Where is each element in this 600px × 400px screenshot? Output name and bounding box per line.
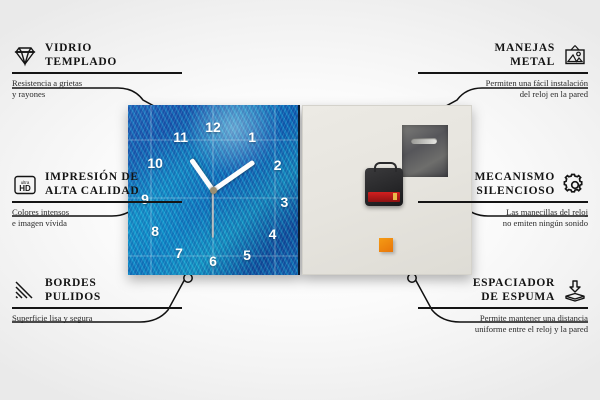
second-hand [212, 190, 214, 238]
feature-heading: VIDRIO TEMPLADO [12, 42, 182, 69]
diamond-icon [12, 44, 38, 68]
feature-title-line2: TEMPLADO [45, 56, 117, 70]
feature-title-line1: VIDRIO [45, 42, 117, 56]
orange-foam-spacer [379, 238, 393, 252]
feature-sub-line1: Permiten una fácil instalación [418, 78, 588, 89]
battery-compartment [368, 192, 400, 202]
feature-impresion-alta-calidad: ultra HD IMPRESIÓN DE ALTA CALIDAD Color… [12, 171, 182, 229]
feature-divider [12, 201, 182, 203]
metal-hanger-plate [402, 125, 448, 177]
feature-sub-line1: Colores intensos [12, 207, 182, 218]
feature-sub-line2: no emiten ningún sonido [418, 218, 588, 229]
feature-title-line2: DE ESPUMA [473, 291, 555, 305]
feature-title-line1: MECANISMO [475, 171, 555, 185]
feature-manejas-metal: MANEJAS METAL Permiten una fácil instala… [418, 42, 588, 100]
minute-hand [212, 159, 256, 192]
feature-bordes-pulidos: BORDES PULIDOS Superficie lisa y segura [12, 277, 182, 324]
feature-sub-line2: y rayones [12, 89, 182, 100]
feature-mecanismo-silencioso: MECANISMO SILENCIOSO Las manecillas del … [418, 171, 588, 229]
feature-title-line1: BORDES [45, 277, 101, 291]
feature-heading: MECANISMO SILENCIOSO [418, 171, 588, 198]
clock-numeral-5: 5 [243, 248, 251, 262]
feature-sub-line2: e imagen vívida [12, 218, 182, 229]
clock-numeral-10: 10 [147, 156, 163, 170]
feature-divider [418, 201, 588, 203]
quartz-movement [365, 168, 403, 206]
clock-numeral-3: 3 [280, 195, 288, 209]
feature-heading: MANEJAS METAL [418, 42, 588, 69]
clock-numeral-7: 7 [175, 246, 183, 260]
feature-sub-line1: Resistencia a grietas [12, 78, 182, 89]
feature-title-line1: ESPACIADOR [473, 277, 555, 291]
feature-divider [418, 72, 588, 74]
arrow-down-onto-pad-icon [562, 279, 588, 303]
feature-sub-line2: uniforme entre el reloj y la pared [418, 324, 588, 335]
infographic-canvas: 12 1 2 3 4 5 6 7 8 9 10 11 [0, 0, 600, 400]
feature-title-line1: IMPRESIÓN DE [45, 171, 139, 185]
feature-title-line2: SILENCIOSO [475, 185, 555, 199]
clock-center-pin [210, 187, 217, 194]
diagonal-lines-icon [12, 279, 38, 303]
endpoint-bordes [184, 274, 192, 282]
feature-sub-line1: Permite mantener una distancia [418, 313, 588, 324]
feature-heading: BORDES PULIDOS [12, 277, 182, 304]
feature-heading: ESPACIADOR DE ESPUMA [418, 277, 588, 304]
feature-sub-line2: del reloj en la pared [418, 89, 588, 100]
feature-sub-line1: Superficie lisa y segura [12, 313, 182, 324]
framed-picture-hanging-icon [562, 44, 588, 68]
feature-divider [12, 307, 182, 309]
ultra-hd-badge-icon: ultra HD [12, 173, 38, 197]
feature-title-line2: ALTA CALIDAD [45, 185, 139, 199]
feature-vidrio-templado: VIDRIO TEMPLADO Resistencia a grietas y … [12, 42, 182, 100]
clock-numeral-11: 11 [173, 130, 188, 144]
clock-numeral-12: 12 [205, 120, 221, 134]
clock-numeral-2: 2 [274, 158, 282, 172]
feature-divider [418, 307, 588, 309]
feature-divider [12, 72, 182, 74]
clock-numeral-6: 6 [209, 254, 217, 268]
gear-icon [562, 173, 588, 197]
clock-numeral-4: 4 [269, 227, 277, 241]
clock-numeral-1: 1 [248, 130, 256, 144]
feature-title-line1: MANEJAS [495, 42, 556, 56]
endpoint-espaciador [408, 274, 416, 282]
svg-text:HD: HD [19, 184, 31, 193]
feature-title-line2: METAL [495, 56, 556, 70]
feature-espaciador-espuma: ESPACIADOR DE ESPUMA Permite mantener un… [418, 277, 588, 335]
feature-sub-line1: Las manecillas del reloj [418, 207, 588, 218]
feature-heading: ultra HD IMPRESIÓN DE ALTA CALIDAD [12, 171, 182, 198]
feature-title-line2: PULIDOS [45, 291, 101, 305]
